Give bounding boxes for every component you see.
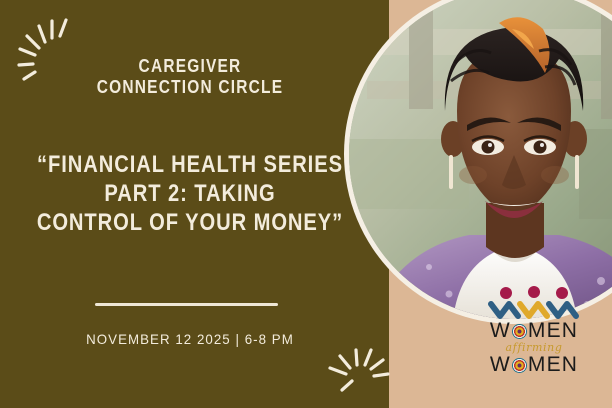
logo-script-word: affirming <box>478 342 590 353</box>
logo-word-top-after: MEN <box>528 319 578 342</box>
logo-word-top: WMEN <box>478 320 590 342</box>
logo-target-ring-icon <box>512 358 527 373</box>
logo-word-bottom-after: MEN <box>528 353 578 376</box>
logo-word-bottom: WMEN <box>478 354 590 376</box>
horizontal-divider <box>95 303 278 306</box>
headline-line-3: CONTROL OF YOUR MONEY” <box>30 208 349 237</box>
logo-target-ring-icon <box>512 324 527 339</box>
sparkle-bottom-right <box>318 336 390 402</box>
radial-burst-sparkle-icon <box>318 336 390 402</box>
waw-figures-icon <box>486 286 582 320</box>
sparkle-top-left <box>16 14 100 88</box>
headline-line-2: PART 2: TAKING <box>30 179 349 208</box>
logo-word-bottom-before: W <box>490 353 511 376</box>
logo-word-top-before: W <box>490 319 511 342</box>
event-datetime: NOVEMBER 12 2025 | 6-8 PM <box>10 331 371 347</box>
organization-logo: WMEN affirming WMEN <box>478 286 590 376</box>
radial-burst-sparkle-icon <box>16 14 100 88</box>
event-flyer: CAREGIVER CONNECTION CIRCLE “FINANCIAL H… <box>0 0 612 408</box>
headline-line-1: “FINANCIAL HEALTH SERIES <box>30 150 349 179</box>
event-title: “FINANCIAL HEALTH SERIES PART 2: TAKING … <box>30 150 349 237</box>
